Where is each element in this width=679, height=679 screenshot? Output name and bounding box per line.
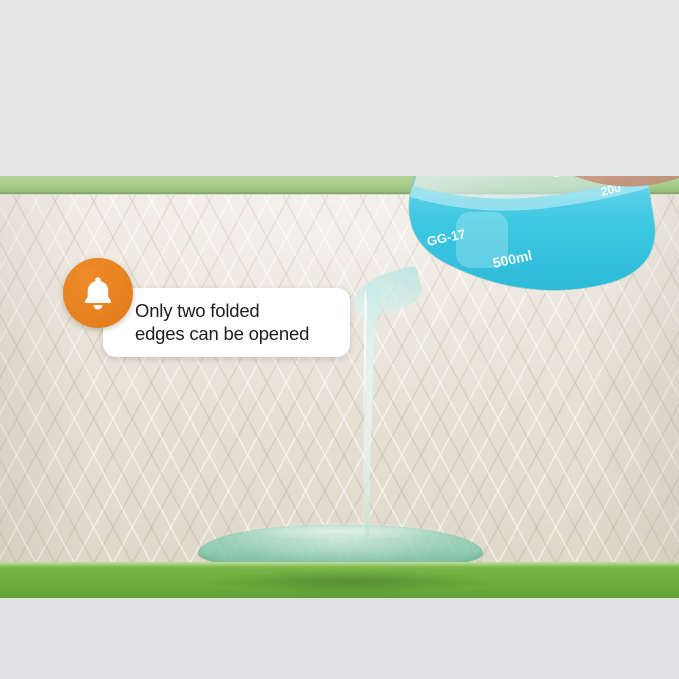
barrier-edge-wet-shadow	[205, 570, 495, 594]
callout-line-1: Only two folded	[135, 299, 345, 322]
footer-band	[0, 598, 679, 679]
callout-text: Only two folded edges can be opened	[135, 299, 345, 345]
bell-icon	[80, 274, 116, 312]
callout-badge	[63, 258, 133, 328]
barrier-edge-near-highlight	[0, 562, 679, 567]
callout-line-2: edges can be opened	[135, 322, 345, 345]
pool-splash-highlight	[232, 522, 447, 540]
product-feature-image: 400 300 200 GG-17 500ml	[0, 0, 679, 679]
header-band	[0, 0, 679, 176]
